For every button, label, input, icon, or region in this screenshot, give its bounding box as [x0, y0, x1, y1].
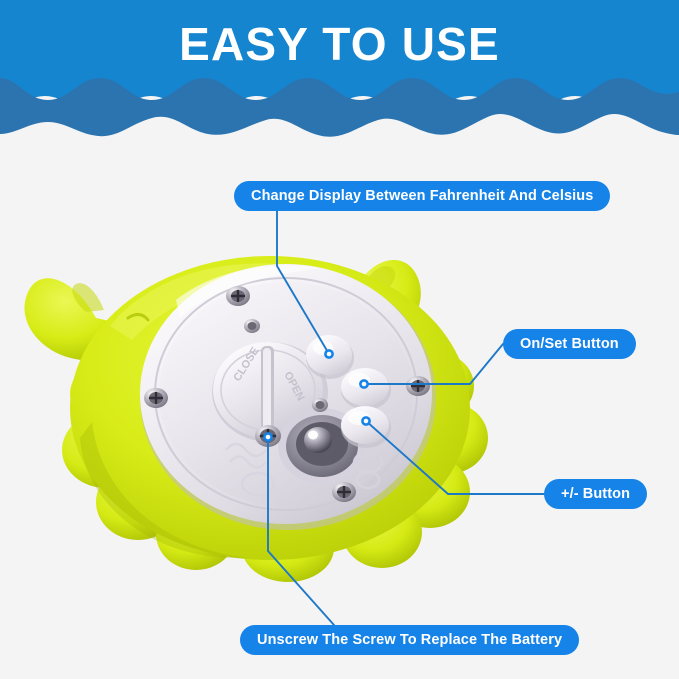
screw-left	[144, 388, 168, 408]
screw-bottom	[332, 482, 356, 502]
callout-on-set[interactable]: On/Set Button	[503, 329, 636, 359]
screw-right	[406, 376, 430, 396]
screw-top	[226, 286, 250, 306]
screw-battery	[255, 425, 281, 447]
callout-display-unit[interactable]: Change Display Between Fahrenheit And Ce…	[234, 181, 610, 211]
product-image-crab-thermometer: CLOSE OPEN	[0, 150, 679, 610]
probe-ball	[304, 427, 332, 453]
callout-battery-screw[interactable]: Unscrew The Screw To Replace The Battery	[240, 625, 579, 655]
infographic-canvas: EASY TO USE	[0, 0, 679, 679]
screw-small-center	[312, 398, 328, 412]
header-banner: EASY TO USE	[0, 0, 679, 140]
callout-plus-minus[interactable]: +/- Button	[544, 479, 647, 509]
screw-small-upper	[244, 319, 260, 333]
page-title: EASY TO USE	[0, 16, 679, 72]
